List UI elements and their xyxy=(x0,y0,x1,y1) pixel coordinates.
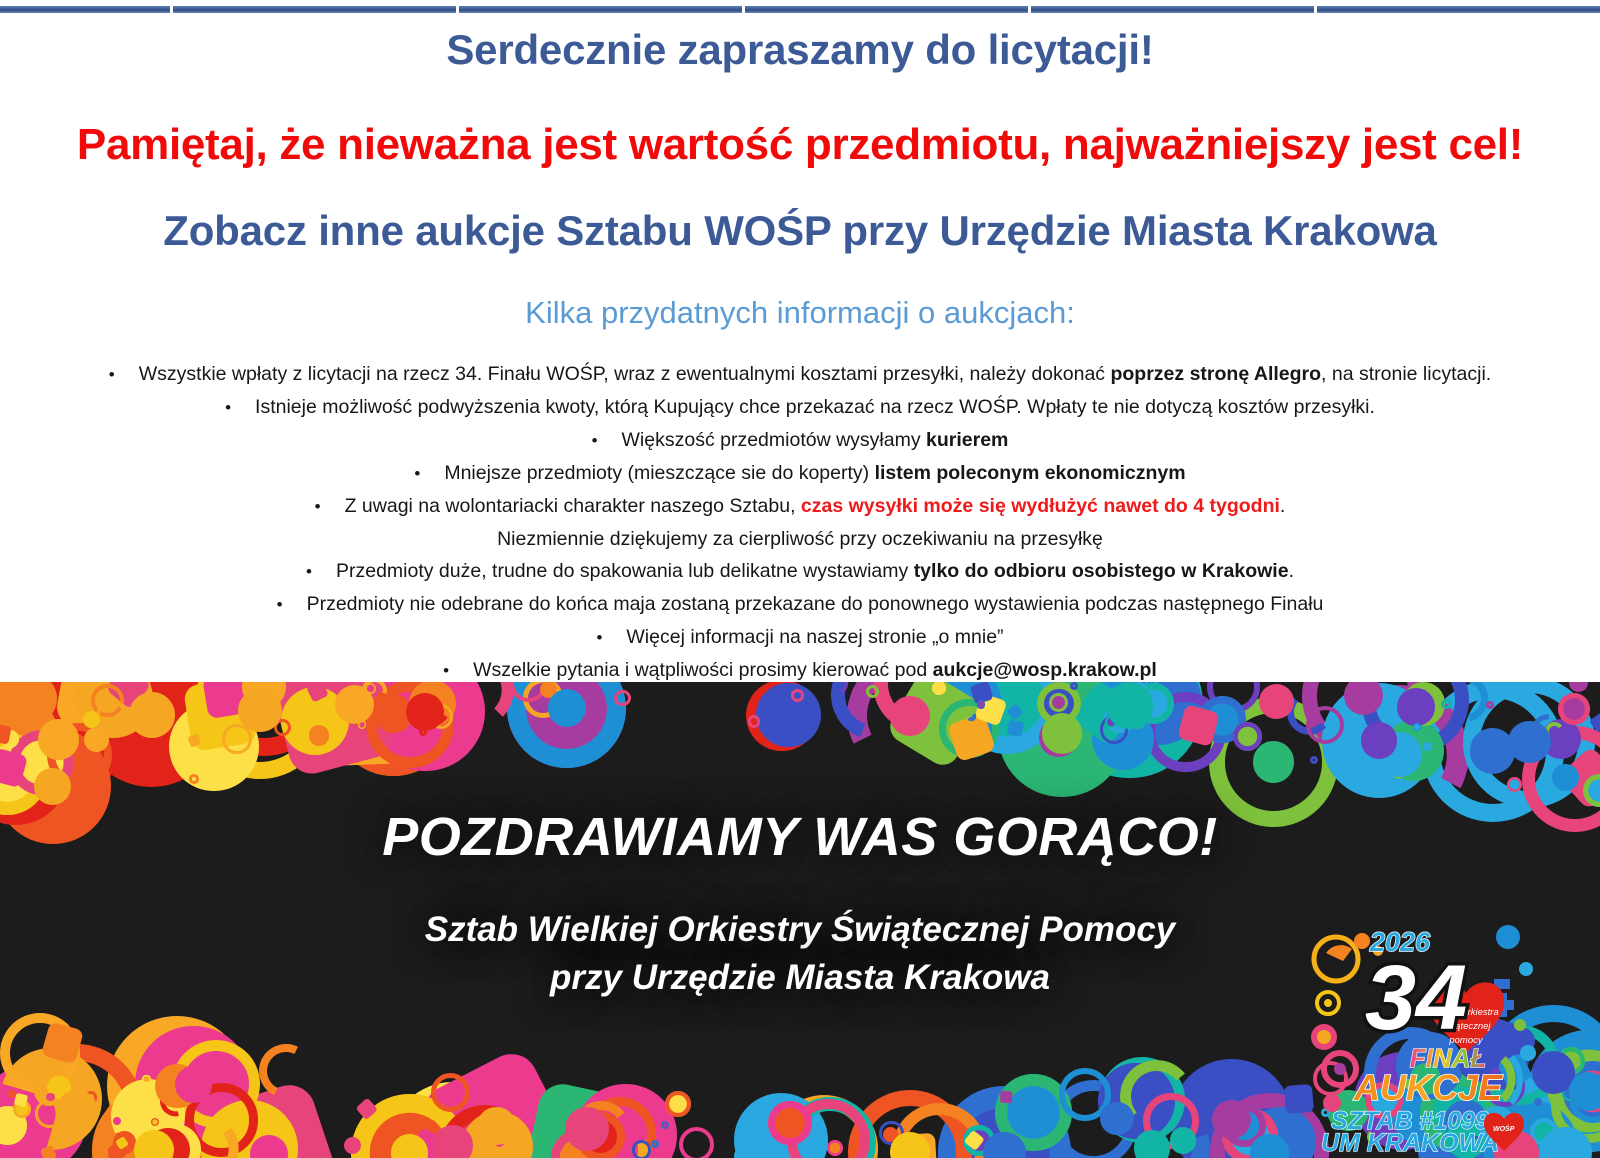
wosp-banner: POZDRAWIAMY WAS GORĄCO! Sztab Wielkiej O… xyxy=(0,682,1600,1158)
decor-shape-core xyxy=(548,689,586,727)
decor-shape-core xyxy=(238,689,281,732)
decor-shape xyxy=(46,1093,54,1101)
decor-shape-core xyxy=(1361,722,1398,759)
bullet-text: Wszystkie wpłaty z licytacji na rzecz 34… xyxy=(139,358,1491,390)
decor-shape xyxy=(866,685,879,698)
decor-shape xyxy=(222,724,251,753)
logo-city: UM KRAKOWA xyxy=(1321,1129,1499,1152)
decor-shape xyxy=(768,1101,812,1145)
decor-shape xyxy=(1569,682,1588,692)
decor-shape xyxy=(8,1090,16,1098)
decor-shape-core xyxy=(406,693,444,731)
decor-shape-core xyxy=(1569,1072,1600,1111)
decor-shape-core xyxy=(1253,741,1294,782)
rule-segment xyxy=(1317,6,1600,13)
decor-shape-core xyxy=(38,719,78,759)
heading-useful-info: Kilka przydatnych informacji o aukcjach: xyxy=(0,295,1600,331)
decor-shape xyxy=(1507,777,1522,792)
decor-shape-core xyxy=(335,685,374,724)
decor-shape xyxy=(1000,1091,1013,1104)
decor-shape xyxy=(1310,756,1318,764)
logo-final-number: 34 xyxy=(1365,947,1467,1049)
decor-shape-core xyxy=(175,1066,212,1103)
decor-shape-core xyxy=(56,1090,99,1133)
bullet-item: •Mniejsze przedmioty (mieszczące sie do … xyxy=(0,457,1600,490)
heading-see-other-auctions[interactable]: Zobacz inne aukcje Sztabu WOŚP przy Urzę… xyxy=(0,207,1600,255)
decor-shape xyxy=(1100,1102,1134,1136)
bullet-dot-icon: • xyxy=(277,589,283,621)
bullet-item: •Istnieje możliwość podwyższenia kwoty, … xyxy=(0,391,1600,424)
decor-shape xyxy=(665,1091,691,1117)
bullet-text: Niezmiennie dziękujemy za cierpliwość pr… xyxy=(497,523,1103,555)
bullet-item: •Więcej informacji na naszej stronie „o … xyxy=(0,621,1600,654)
bullet-dot-icon: • xyxy=(109,359,115,391)
bullet-item: •Wszystkie wpłaty z licytacji na rzecz 3… xyxy=(0,358,1600,391)
heading-reminder: Pamiętaj, że nieważna jest wartość przed… xyxy=(0,120,1600,170)
bullet-text: Więcej informacji na naszej stronie „o m… xyxy=(626,621,1003,653)
decor-shape xyxy=(614,690,630,706)
bullet-dot-icon: • xyxy=(315,491,321,523)
decor-shape xyxy=(661,1121,669,1129)
decor-shape xyxy=(83,711,100,728)
decor-shape xyxy=(977,700,986,709)
decor-shape xyxy=(791,689,804,702)
decor-shape xyxy=(1259,684,1294,719)
info-bullet-list: •Wszystkie wpłaty z licytacji na rzecz 3… xyxy=(0,358,1600,687)
bullet-text: Większość przedmiotów wysyłamy kurierem xyxy=(622,424,1009,456)
bullet-dot-icon: • xyxy=(225,392,231,424)
rule-segment xyxy=(0,6,170,13)
decor-shape xyxy=(142,1075,150,1083)
decor-shape-core xyxy=(34,768,71,805)
decor-shape-core xyxy=(1508,721,1550,763)
bullet-text: Mniejsze przedmioty (mieszczące sie do k… xyxy=(444,457,1185,489)
decor-shape xyxy=(1397,688,1434,725)
decor-shape xyxy=(1552,764,1579,791)
bullet-dot-icon: • xyxy=(306,556,312,588)
decor-shape xyxy=(679,1127,714,1158)
decor-shape-core xyxy=(477,1107,516,1146)
decor-shape xyxy=(965,710,976,721)
bullet-text: Przedmioty duże, trudne do spakowania lu… xyxy=(336,555,1294,587)
decor-shape xyxy=(84,727,109,752)
decor-shape xyxy=(1049,693,1068,712)
logo-auctions-word: AUKCJE xyxy=(1353,1067,1503,1108)
decor-shape xyxy=(1441,699,1451,709)
bullet-item: •Z uwagi na wolontariacki charakter nasz… xyxy=(0,490,1600,523)
decor-shape xyxy=(1486,701,1494,709)
decor-shape xyxy=(932,682,945,695)
decor-shape xyxy=(309,725,330,746)
rule-segment xyxy=(745,6,1028,13)
banner-greeting: POZDRAWIAMY WAS GORĄCO! xyxy=(0,806,1600,868)
bullet-item: Niezmiennie dziękujemy za cierpliwość pr… xyxy=(0,523,1600,555)
bullet-text: Przedmioty nie odebrane do końca maja zo… xyxy=(307,588,1324,620)
decor-shape-core xyxy=(129,692,175,738)
bullet-item: •Większość przedmiotów wysyłamy kurierem xyxy=(0,424,1600,457)
bullet-item: •Przedmioty duże, trudne do spakowania l… xyxy=(0,555,1600,588)
decor-shape xyxy=(1007,720,1024,737)
rule-segment xyxy=(1031,6,1314,13)
decor-shape-core xyxy=(433,1125,474,1158)
bullet-text: Z uwagi na wolontariacki charakter nasze… xyxy=(345,490,1286,522)
decor-shape-core xyxy=(1106,682,1153,729)
decor-shape-core xyxy=(890,696,930,736)
rule-segment xyxy=(173,6,456,13)
decor-shape xyxy=(189,774,199,784)
bullet-item: •Przedmioty nie odebrane do końca maja z… xyxy=(0,588,1600,621)
poster-page: Serdecznie zapraszamy do licytacji! Pami… xyxy=(0,0,1600,1158)
decor-shape xyxy=(1423,742,1432,751)
bullet-text: Istnieje możliwość podwyższenia kwoty, k… xyxy=(255,391,1375,423)
decor-shape xyxy=(565,1107,609,1151)
decor-shape xyxy=(734,1147,752,1158)
heading-invitation: Serdecznie zapraszamy do licytacji! xyxy=(0,26,1600,74)
decor-shape xyxy=(756,683,821,748)
bullet-dot-icon: • xyxy=(414,458,420,490)
bullet-dot-icon: • xyxy=(596,622,602,654)
decor-shape xyxy=(1558,693,1590,725)
decor-shape xyxy=(748,715,760,727)
bullet-dot-icon: • xyxy=(592,425,598,457)
wosp-34-final-logo: 2026 wielka orkiestra świątecznej pomocy… xyxy=(1298,907,1548,1152)
decor-shape-core xyxy=(1042,713,1083,754)
logo-small-heart-mark: WOŚP xyxy=(1493,1124,1515,1133)
decor-shape xyxy=(632,1140,652,1158)
rule-segment xyxy=(459,6,742,13)
top-divider-rule xyxy=(0,6,1600,13)
